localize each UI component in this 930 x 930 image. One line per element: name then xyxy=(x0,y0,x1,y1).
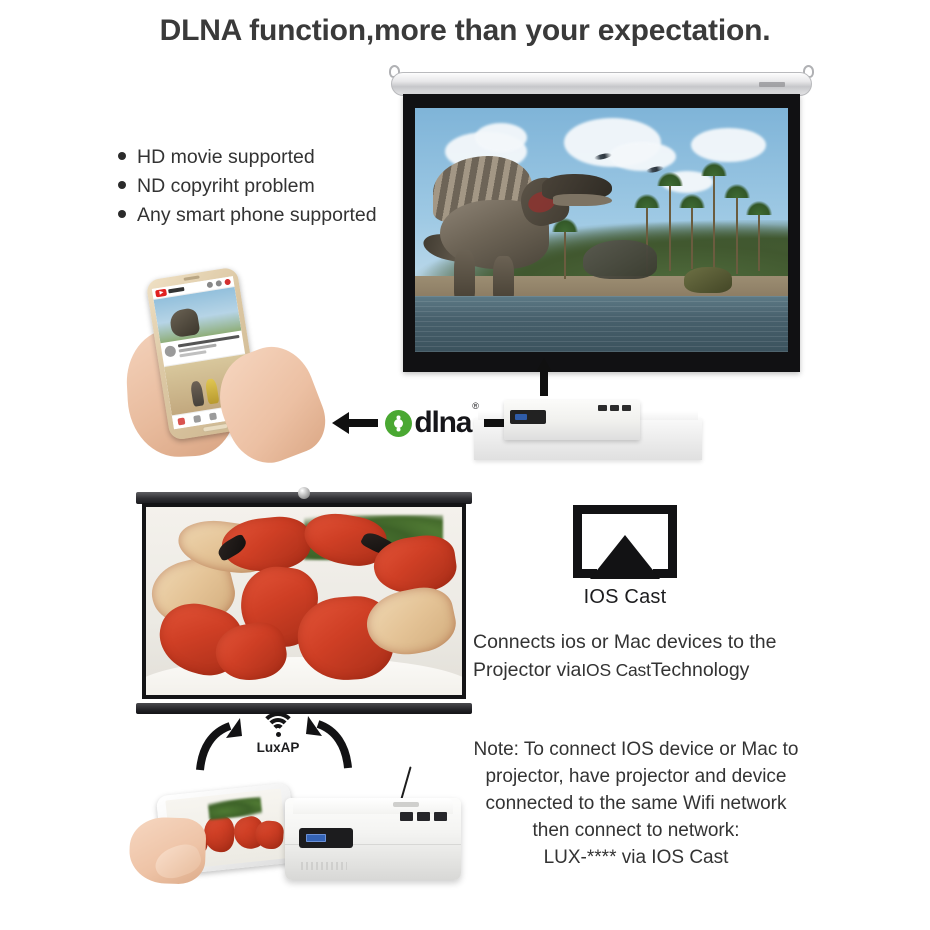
youtube-logo-icon xyxy=(155,288,167,297)
bullet-dot-icon xyxy=(118,181,126,189)
avatar[interactable] xyxy=(224,279,231,286)
curved-arrow-left-icon xyxy=(196,718,248,772)
list-item: HD movie supported xyxy=(118,146,377,169)
spinosaurus xyxy=(430,147,605,303)
cast-description-line1: Connects ios or Mac devices to the xyxy=(473,628,813,656)
cast-description-line2: Projector viaIOS CastTechnology xyxy=(473,656,813,684)
note-line: LUX-**** via IOS Cast xyxy=(452,844,820,871)
appbar-icons xyxy=(206,279,231,289)
cast-triangle xyxy=(590,535,660,579)
cast-description: Connects ios or Mac devices to the Proje… xyxy=(473,628,813,684)
projection-screen-top xyxy=(385,72,818,380)
youtube-wordmark xyxy=(168,287,184,293)
search-icon[interactable] xyxy=(215,280,222,287)
screen-frame xyxy=(403,94,800,372)
dlna-wordmark: dlna® xyxy=(414,408,476,438)
projector-top xyxy=(490,392,660,446)
projector-buttons[interactable] xyxy=(598,405,631,411)
ios-cast-label: IOS Cast xyxy=(560,586,690,609)
projection-screen-bottom xyxy=(136,492,472,714)
feature-list: HD movie supported ND copyriht problem A… xyxy=(118,146,377,233)
up-arrow-icon xyxy=(536,358,552,396)
projector-lens xyxy=(299,828,353,848)
projector-cable xyxy=(400,766,411,799)
screen-roller-casing xyxy=(391,72,812,96)
nav-home-icon[interactable] xyxy=(177,418,185,426)
cast-icon[interactable] xyxy=(206,281,213,288)
crab-dish-image xyxy=(146,507,462,695)
nav-trending-icon[interactable] xyxy=(193,415,201,423)
dinosaur-scene-image xyxy=(415,108,788,352)
wifi-dot xyxy=(276,732,281,737)
projector-bottom xyxy=(285,788,461,892)
phone-home-button[interactable] xyxy=(202,423,229,433)
projector-body xyxy=(285,798,461,880)
feature-label: ND copyriht problem xyxy=(137,175,315,198)
note-line: projector, have projector and device xyxy=(452,763,820,790)
roller-brand-mark xyxy=(759,82,785,87)
smartphone-bottom xyxy=(142,783,298,884)
note-line: Note: To connect IOS device or Mac to xyxy=(452,736,820,763)
cast-desc-post: Technology xyxy=(651,659,750,681)
ios-cast-icon xyxy=(573,505,677,579)
phone-earpiece xyxy=(183,275,199,280)
projector-focus-slot[interactable] xyxy=(393,802,419,807)
list-item: ND copyriht problem xyxy=(118,175,377,198)
projector-lens xyxy=(510,410,546,424)
projector-body xyxy=(504,400,640,440)
projector-buttons[interactable] xyxy=(400,812,447,821)
palm-tree xyxy=(713,169,715,271)
curved-arrow-right-icon xyxy=(300,716,352,770)
connection-note: Note: To connect IOS device or Mac to pr… xyxy=(452,736,820,871)
projector-vent xyxy=(301,862,347,870)
bullet-dot-icon xyxy=(118,210,126,218)
luxap-wifi-block: LuxAP xyxy=(248,712,308,755)
cloud xyxy=(691,128,766,162)
palm-tree xyxy=(669,179,671,272)
palm-tree xyxy=(691,201,693,269)
wifi-icon xyxy=(260,712,296,738)
note-line: then connect to network: xyxy=(452,817,820,844)
feature-label: HD movie supported xyxy=(137,146,315,169)
channel-avatar xyxy=(164,345,177,358)
cast-desc-pre: Projector via xyxy=(473,659,581,681)
crab-claw xyxy=(204,816,234,852)
screen-frame xyxy=(142,503,466,699)
dlna-logo: dlna® xyxy=(385,408,476,438)
product-feature-page: DLNA function,more than your expectation… xyxy=(0,0,930,930)
smartphone-top xyxy=(140,264,277,447)
dinosaur-jaw xyxy=(553,194,613,206)
list-item: Any smart phone supported xyxy=(118,204,377,227)
note-line: connected to the same Wifi network xyxy=(452,790,820,817)
thumbnail-dinosaur xyxy=(169,307,201,338)
nav-subscriptions-icon[interactable] xyxy=(209,412,217,420)
screen-pull-knob[interactable] xyxy=(298,487,310,499)
water-layer xyxy=(415,296,788,352)
palm-tree xyxy=(758,208,760,271)
bullet-dot-icon xyxy=(118,152,126,160)
palm-tree xyxy=(736,191,738,274)
background-dinosaur xyxy=(684,267,732,294)
page-title: DLNA function,more than your expectation… xyxy=(0,14,930,48)
ios-cast-block: IOS Cast xyxy=(560,505,690,609)
dlna-mark-icon xyxy=(385,410,412,437)
cast-desc-brand: IOS Cast xyxy=(581,660,650,680)
feature-label: Any smart phone supported xyxy=(137,204,377,227)
left-arrow-icon xyxy=(332,412,378,434)
